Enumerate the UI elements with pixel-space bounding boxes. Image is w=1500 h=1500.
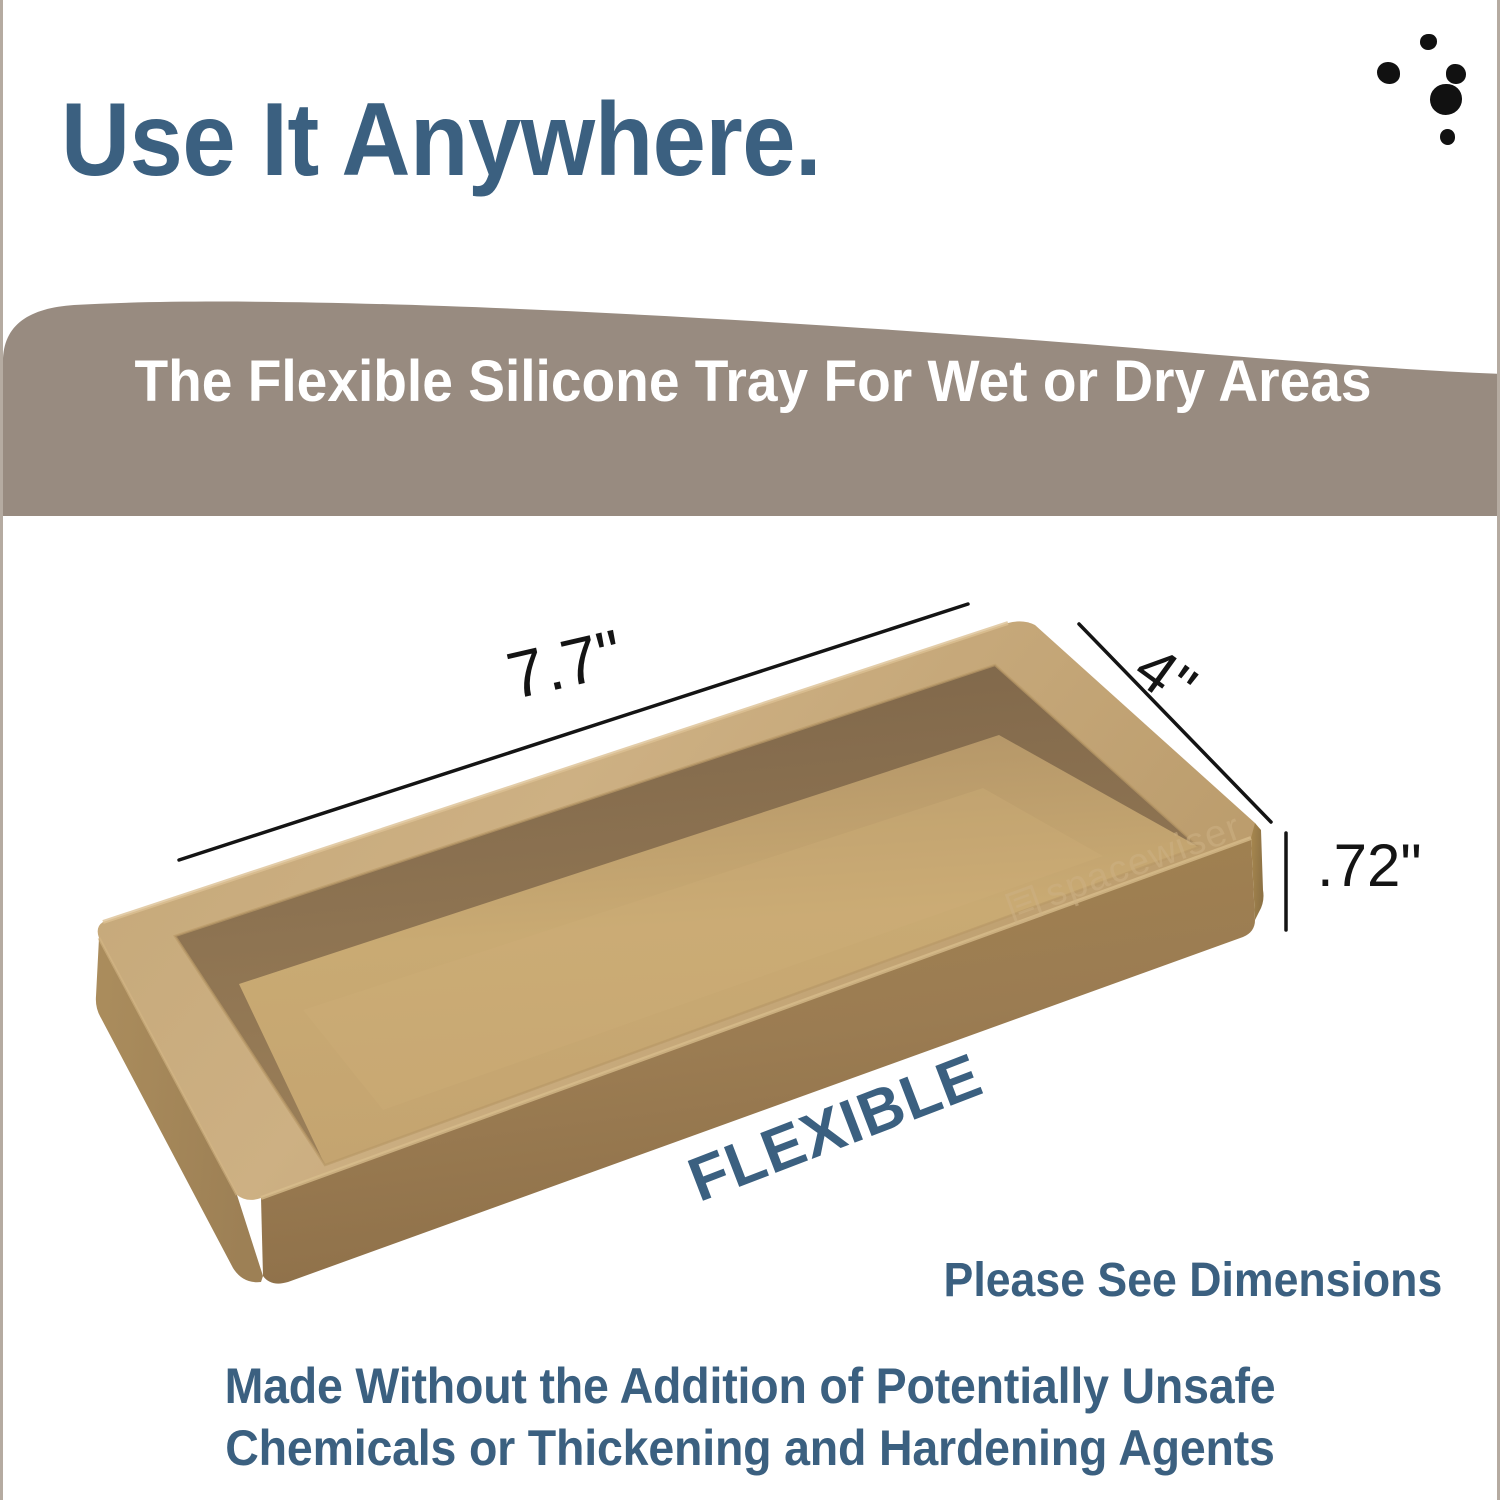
page-title: Use It Anywhere. xyxy=(61,88,821,192)
banner-subtitle: The Flexible Silicone Tray For Wet or Dr… xyxy=(38,348,1469,415)
safety-claim-line-1: Made Without the Addition of Potentially… xyxy=(55,1357,1444,1415)
safety-claim-line-2: Chemicals or Thickening and Hardening Ag… xyxy=(55,1419,1444,1477)
height-label: .72" xyxy=(1317,831,1422,900)
decorative-dot-icon xyxy=(1440,129,1455,145)
product-infographic: Use It Anywhere. The Flexible Silicone T… xyxy=(0,0,1500,1500)
see-dimensions-note: Please See Dimensions xyxy=(943,1253,1442,1308)
subtitle-banner: The Flexible Silicone Tray For Wet or Dr… xyxy=(0,288,1500,516)
decorative-dot-icon xyxy=(1377,62,1400,84)
decorative-dot-icon xyxy=(1430,84,1462,115)
decorative-dot-icon xyxy=(1446,64,1466,84)
decorative-dot-icon xyxy=(1420,34,1437,50)
